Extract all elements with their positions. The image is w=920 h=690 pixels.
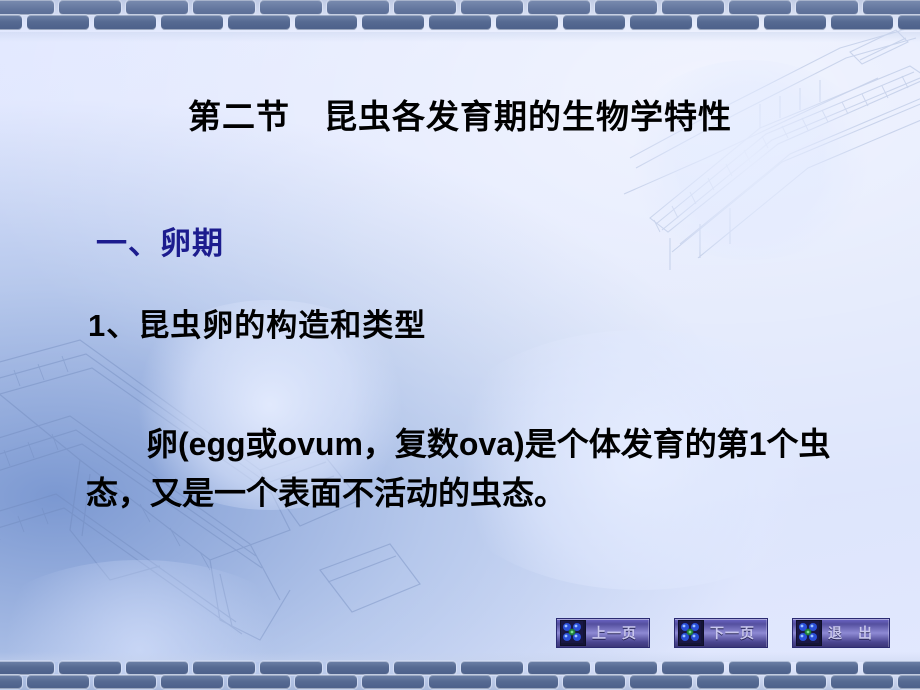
slide-navigation-bar: 上一页 下一页 [556,618,890,648]
section-heading: 一、卵期 [96,218,224,263]
next-page-label: 下一页 [708,623,765,643]
next-page-button[interactable]: 下一页 [674,618,768,648]
flower-ornament-icon [678,620,704,646]
previous-page-label: 上一页 [590,623,647,643]
presentation-slide: 第二节 昆虫各发育期的生物学特性 一、卵期 1、昆虫卵的构造和类型 卵(egg或… [0,0,920,690]
exit-button[interactable]: 退 出 [792,618,890,648]
body-paragraph: 卵(egg或ovum，复数ova)是个体发育的第1个虫态，又是一个表面不活动的虫… [86,420,876,518]
flower-ornament-icon [560,620,586,646]
slide-content: 第二节 昆虫各发育期的生物学特性 一、卵期 1、昆虫卵的构造和类型 卵(egg或… [0,0,920,690]
previous-page-button[interactable]: 上一页 [556,618,650,648]
slide-title: 第二节 昆虫各发育期的生物学特性 [0,90,920,138]
exit-label: 退 出 [826,623,883,643]
flower-ornament-icon [796,620,822,646]
subsection-heading: 1、昆虫卵的构造和类型 [88,300,426,345]
